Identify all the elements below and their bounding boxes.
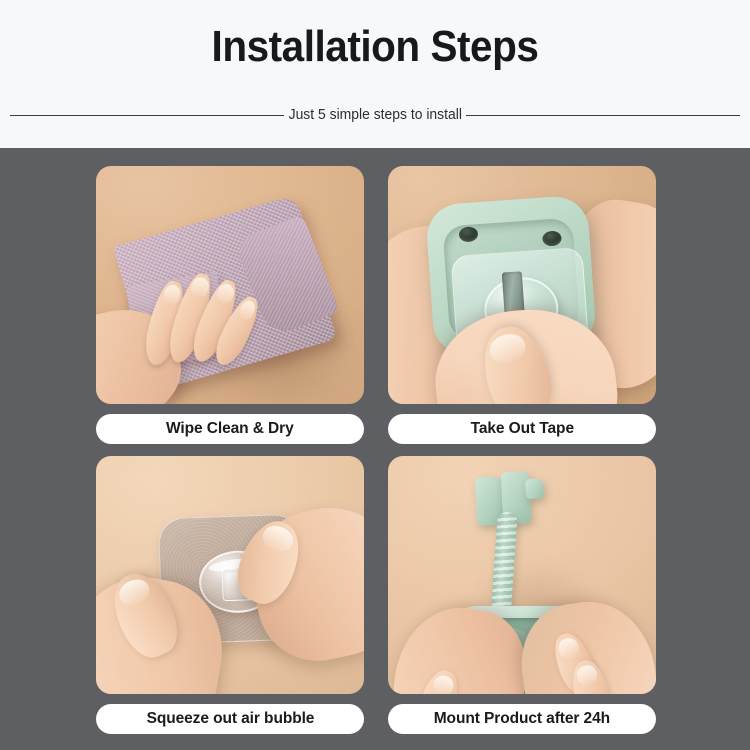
header-section: Installation Steps Just 5 simple steps t… [0, 0, 750, 148]
step-card-mount-product-after-24h: Mount Product after 24h [388, 456, 656, 734]
step-card-wipe-clean-dry: Wipe Clean & Dry [96, 166, 364, 444]
step-label-pill-4: Mount Product after 24h [388, 704, 656, 734]
step-label-pill-2: Take Out Tape [388, 414, 656, 444]
step-photo-hands-peeling-adhesive-tape-from-base [388, 166, 656, 404]
step-label-text-1: Wipe Clean & Dry [166, 420, 294, 438]
subtitle-text: Just 5 simple steps to install [287, 104, 462, 126]
divider-line-left [10, 115, 284, 116]
step-label-pill-3: Squeeze out air bubble [96, 704, 364, 734]
step-label-pill-1: Wipe Clean & Dry [96, 414, 364, 444]
step-card-take-out-tape: Take Out Tape [388, 166, 656, 444]
step-label-text-3: Squeeze out air bubble [146, 710, 314, 728]
bracket-tab [525, 478, 544, 499]
installation-steps-infographic: Installation Steps Just 5 simple steps t… [0, 0, 750, 750]
divider-line-right [466, 115, 740, 116]
subtitle-row: Just 5 simple steps to install [10, 104, 740, 126]
step-label-text-2: Take Out Tape [470, 420, 573, 438]
steps-body: Wipe Clean & Dry [0, 148, 750, 750]
page-title: Installation Steps [30, 21, 720, 73]
wiping-hand [96, 270, 254, 404]
step-card-squeeze-out-air-bubble: Squeeze out air bubble [96, 456, 364, 734]
step-photo-hand-wiping-surface-with-cloth [96, 166, 364, 404]
step-label-text-4: Mount Product after 24h [434, 710, 610, 728]
step-photo-hands-mounting-shower-head-on-bracket [388, 456, 656, 694]
step-photo-fingers-pressing-adhesive-pad-on-wall [96, 456, 364, 694]
steps-grid: Wipe Clean & Dry [96, 166, 656, 734]
